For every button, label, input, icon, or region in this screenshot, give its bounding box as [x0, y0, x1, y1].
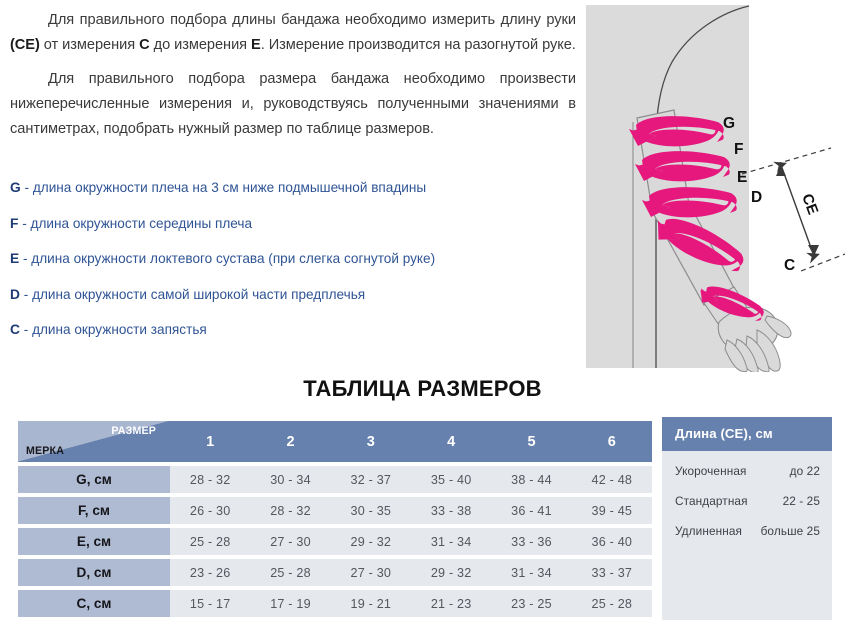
ce-dimension-label: CE — [798, 192, 821, 217]
cell-e-5: 33 - 36 — [491, 528, 571, 555]
corner-label-size: РАЗМЕР — [111, 425, 156, 437]
legend-dash-d: - — [20, 287, 32, 302]
cell-c-2: 17 - 19 — [250, 590, 330, 617]
length-name-long: Удлиненная — [675, 524, 742, 538]
length-value-short: до 22 — [790, 464, 820, 478]
cell-d-5: 31 - 34 — [491, 559, 571, 586]
cell-d-3: 27 - 30 — [331, 559, 411, 586]
legend-dash-c: - — [20, 322, 32, 337]
row-label-c: C, см — [18, 590, 170, 617]
length-name-standard: Стандартная — [675, 494, 748, 508]
illustration-label-d: D — [751, 189, 762, 206]
cell-g-6: 42 - 48 — [572, 466, 652, 493]
cell-e-6: 36 - 40 — [572, 528, 652, 555]
cell-d-1: 23 - 26 — [170, 559, 250, 586]
size-column-header-5: 5 — [491, 421, 571, 462]
table-row: F, см 26 - 30 28 - 32 30 - 35 33 - 38 36… — [18, 497, 652, 524]
intro-p1-part4: . Измерение производится на разогнутой р… — [261, 37, 576, 53]
cell-c-1: 15 - 17 — [170, 590, 250, 617]
cell-c-6: 25 - 28 — [572, 590, 652, 617]
row-label-e: E, см — [18, 528, 170, 555]
size-column-header-1: 1 — [170, 421, 250, 462]
intro-p1-ce: (СЕ) — [10, 37, 40, 53]
page-title: ТАБЛИЦА РАЗМЕРОВ — [0, 376, 845, 402]
legend-key-d: D — [10, 287, 20, 302]
size-column-header-4: 4 — [411, 421, 491, 462]
length-value-long: больше 25 — [761, 524, 820, 538]
cell-f-4: 33 - 38 — [411, 497, 491, 524]
legend-item-c: C - длина окружности запястья — [10, 322, 570, 338]
legend-item-e: E - длина окружности локтевого сустава (… — [10, 251, 570, 267]
intro-paragraph-2: Для правильного подбора размера бандажа … — [10, 67, 576, 142]
cell-f-1: 26 - 30 — [170, 497, 250, 524]
intro-p1-e: Е — [251, 37, 261, 53]
cell-g-3: 32 - 37 — [331, 466, 411, 493]
legend-text-e: длина окружности локтевого сустава (при … — [31, 251, 435, 266]
length-table-body: Укороченная до 22 Стандартная 22 - 25 Уд… — [662, 451, 832, 620]
table-row: D, см 23 - 26 25 - 28 27 - 30 29 - 32 31… — [18, 559, 652, 586]
size-table-container: РАЗМЕР МЕРКА 1 2 3 4 5 6 G, см 28 - 32 3… — [18, 417, 652, 621]
length-row-standard: Стандартная 22 - 25 — [675, 494, 820, 508]
length-value-standard: 22 - 25 — [783, 494, 820, 508]
intro-p1-part3: до измерения — [150, 37, 251, 53]
cell-g-5: 38 - 44 — [491, 466, 571, 493]
legend-item-d: D - длина окружности самой широкой части… — [10, 287, 570, 303]
cell-c-4: 21 - 23 — [411, 590, 491, 617]
length-row-short: Укороченная до 22 — [675, 464, 820, 478]
length-table-container: Длина (СЕ), см Укороченная до 22 Стандар… — [662, 417, 832, 620]
cell-c-3: 19 - 21 — [331, 590, 411, 617]
size-table: РАЗМЕР МЕРКА 1 2 3 4 5 6 G, см 28 - 32 3… — [18, 417, 652, 621]
cell-c-5: 23 - 25 — [491, 590, 571, 617]
table-row: G, см 28 - 32 30 - 34 32 - 37 35 - 40 38… — [18, 466, 652, 493]
length-name-short: Укороченная — [675, 464, 746, 478]
cell-g-1: 28 - 32 — [170, 466, 250, 493]
size-column-header-2: 2 — [250, 421, 330, 462]
cell-d-4: 29 - 32 — [411, 559, 491, 586]
cell-e-3: 29 - 32 — [331, 528, 411, 555]
legend-text-c: длина окружности запястья — [32, 322, 207, 337]
intro-p1-part2: от измерения — [40, 37, 139, 53]
cell-g-4: 35 - 40 — [411, 466, 491, 493]
arm-measurement-illustration: G F E D C CE — [571, 0, 845, 372]
illustration-label-f: F — [734, 141, 743, 158]
illustration-label-g: G — [723, 115, 735, 132]
legend-key-e: E — [10, 251, 19, 266]
size-column-header-3: 3 — [331, 421, 411, 462]
table-row: E, см 25 - 28 27 - 30 29 - 32 31 - 34 33… — [18, 528, 652, 555]
legend-dash-f: - — [18, 216, 30, 231]
cell-f-3: 30 - 35 — [331, 497, 411, 524]
intro-paragraph-1: Для правильного подбора длины бандажа не… — [10, 8, 576, 58]
legend-key-c: C — [10, 322, 20, 337]
length-table-header: Длина (СЕ), см — [662, 417, 832, 451]
cell-e-2: 27 - 30 — [250, 528, 330, 555]
length-row-long: Удлиненная больше 25 — [675, 524, 820, 538]
cell-d-6: 33 - 37 — [572, 559, 652, 586]
table-row: C, см 15 - 17 17 - 19 19 - 21 21 - 23 23… — [18, 590, 652, 617]
corner-label-measure: МЕРКА — [26, 445, 64, 457]
size-column-header-6: 6 — [572, 421, 652, 462]
legend-dash-e: - — [19, 251, 31, 266]
legend-text-g: длина окружности плеча на 3 см ниже подм… — [33, 180, 426, 195]
legend-text-f: длина окружности середины плеча — [31, 216, 253, 231]
legend-key-g: G — [10, 180, 21, 195]
legend-dash-g: - — [21, 180, 33, 195]
legend-item-f: F - длина окружности середины плеча — [10, 216, 570, 232]
cell-f-2: 28 - 32 — [250, 497, 330, 524]
cell-e-4: 31 - 34 — [411, 528, 491, 555]
measurement-legend-list: G - длина окружности плеча на 3 см ниже … — [10, 180, 570, 358]
legend-item-g: G - длина окружности плеча на 3 см ниже … — [10, 180, 570, 196]
row-label-g: G, см — [18, 466, 170, 493]
legend-text-d: длина окружности самой широкой части пре… — [32, 287, 365, 302]
size-table-header-row: РАЗМЕР МЕРКА 1 2 3 4 5 6 — [18, 421, 652, 462]
intro-p1-part1: Для правильного подбора длины бандажа не… — [48, 12, 576, 28]
size-table-corner-cell: РАЗМЕР МЕРКА — [18, 421, 170, 462]
row-label-f: F, см — [18, 497, 170, 524]
ce-dimension-annotation: CE — [742, 148, 845, 271]
intro-p1-c: С — [139, 37, 150, 53]
illustration-label-c: C — [784, 257, 795, 274]
cell-d-2: 25 - 28 — [250, 559, 330, 586]
illustration-label-e: E — [737, 169, 747, 186]
cell-g-2: 30 - 34 — [250, 466, 330, 493]
cell-f-5: 36 - 41 — [491, 497, 571, 524]
cell-f-6: 39 - 45 — [572, 497, 652, 524]
cell-e-1: 25 - 28 — [170, 528, 250, 555]
row-label-d: D, см — [18, 559, 170, 586]
